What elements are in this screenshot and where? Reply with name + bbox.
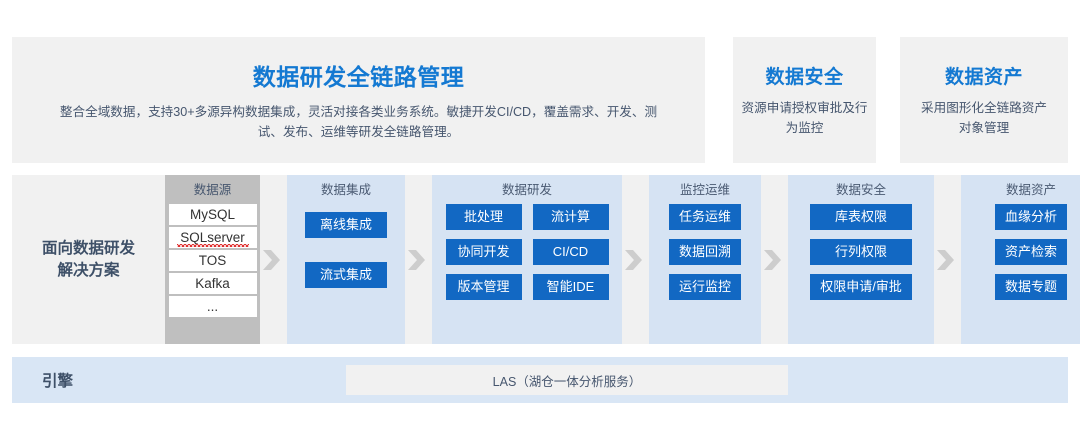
header-card-description: 资源申请授权审批及行为监控 bbox=[739, 98, 871, 139]
capability-chip[interactable]: 协同开发 bbox=[446, 239, 522, 265]
capability-chip[interactable]: 数据回溯 bbox=[669, 239, 741, 265]
data-source-chip[interactable]: Kafka bbox=[169, 273, 257, 294]
capability-chip[interactable]: 流计算 bbox=[533, 204, 609, 230]
header-card-assets: 数据资产 采用图形化全链路资产对象管理 bbox=[900, 37, 1068, 163]
capability-chip[interactable]: 资产检索 bbox=[995, 239, 1067, 265]
stage-column: 监控运维任务运维数据回溯运行监控 bbox=[649, 175, 761, 344]
capability-chip[interactable]: 流式集成 bbox=[305, 262, 387, 288]
capability-chip[interactable]: CI/CD bbox=[533, 239, 609, 265]
stage-column: 数据源MySQLSQLserverTOSKafka... bbox=[165, 175, 260, 344]
diagram-left-label: 面向数据研发解决方案 bbox=[12, 175, 165, 344]
capability-chip[interactable]: 库表权限 bbox=[810, 204, 912, 230]
data-source-chip[interactable]: SQLserver bbox=[169, 227, 257, 248]
data-source-chip[interactable]: ... bbox=[169, 296, 257, 317]
stage-column: 数据安全库表权限行列权限权限申请/审批 bbox=[788, 175, 934, 344]
capability-chip[interactable]: 任务运维 bbox=[669, 204, 741, 230]
capability-chip[interactable]: 批处理 bbox=[446, 204, 522, 230]
header-card-title: 数据资产 bbox=[945, 62, 1023, 89]
flow-arrow-icon bbox=[761, 175, 788, 344]
stage-title: 数据安全 bbox=[836, 184, 886, 197]
stage-item-group: 离线集成流式集成 bbox=[287, 212, 405, 288]
data-source-chip[interactable]: MySQL bbox=[169, 204, 257, 225]
capability-chip[interactable]: 离线集成 bbox=[305, 212, 387, 238]
stage-title: 数据资产 bbox=[1006, 184, 1056, 197]
stage-column: 数据研发批处理流计算协同开发CI/CD版本管理智能IDE bbox=[432, 175, 622, 344]
capability-chip[interactable]: 血缘分析 bbox=[995, 204, 1067, 230]
capability-chip[interactable]: 行列权限 bbox=[810, 239, 912, 265]
header-card-description: 采用图形化全链路资产对象管理 bbox=[918, 98, 1050, 139]
diagram-stage-flow: 面向数据研发解决方案 数据源MySQLSQLserverTOSKafka...数… bbox=[12, 175, 1068, 344]
engine-label: 引擎 bbox=[12, 369, 346, 391]
engine-service-box: LAS（湖仓一体分析服务） bbox=[346, 365, 788, 395]
engine-bar: 引擎 LAS（湖仓一体分析服务） bbox=[12, 357, 1068, 403]
stage-item-group: 批处理流计算协同开发CI/CD版本管理智能IDE bbox=[446, 204, 609, 300]
stage-column: 数据资产血缘分析资产检索数据专题 bbox=[961, 175, 1080, 344]
diagram-panel: 面向数据研发解决方案 数据源MySQLSQLserverTOSKafka...数… bbox=[12, 175, 1068, 344]
header-card-security: 数据安全 资源申请授权审批及行为监控 bbox=[733, 37, 876, 163]
stage-item-group: 库表权限行列权限权限申请/审批 bbox=[810, 204, 912, 300]
stage-title: 数据源 bbox=[194, 184, 232, 197]
data-source-chip[interactable]: TOS bbox=[169, 250, 257, 271]
header-row: 数据研发全链路管理 整合全域数据，支持30+多源异构数据集成，灵活对接各类业务系… bbox=[12, 37, 1068, 163]
stage-column: 数据集成离线集成流式集成 bbox=[287, 175, 405, 344]
diagram-left-label-text: 面向数据研发解决方案 bbox=[35, 238, 143, 282]
flow-arrow-icon bbox=[622, 175, 649, 344]
capability-chip[interactable]: 权限申请/审批 bbox=[810, 274, 912, 300]
capability-chip[interactable]: 运行监控 bbox=[669, 274, 741, 300]
header-card-pipeline: 数据研发全链路管理 整合全域数据，支持30+多源异构数据集成，灵活对接各类业务系… bbox=[12, 37, 705, 163]
flow-arrow-icon bbox=[934, 175, 961, 344]
stage-title: 数据集成 bbox=[321, 184, 371, 197]
stage-item-group: MySQLSQLserverTOSKafka... bbox=[165, 204, 260, 319]
header-card-description: 整合全域数据，支持30+多源异构数据集成，灵活对接各类业务系统。敏捷开发CI/C… bbox=[59, 102, 659, 143]
capability-chip[interactable]: 智能IDE bbox=[533, 274, 609, 300]
stage-title: 监控运维 bbox=[680, 184, 730, 197]
stage-item-group: 任务运维数据回溯运行监控 bbox=[669, 204, 741, 300]
stage-title: 数据研发 bbox=[502, 184, 552, 197]
capability-chip[interactable]: 版本管理 bbox=[446, 274, 522, 300]
header-card-title: 数据安全 bbox=[765, 62, 843, 89]
stage-item-group: 血缘分析资产检索数据专题 bbox=[995, 204, 1067, 300]
capability-chip[interactable]: 数据专题 bbox=[995, 274, 1067, 300]
flow-arrow-icon bbox=[260, 175, 287, 344]
header-card-title: 数据研发全链路管理 bbox=[253, 58, 465, 92]
flow-arrow-icon bbox=[405, 175, 432, 344]
